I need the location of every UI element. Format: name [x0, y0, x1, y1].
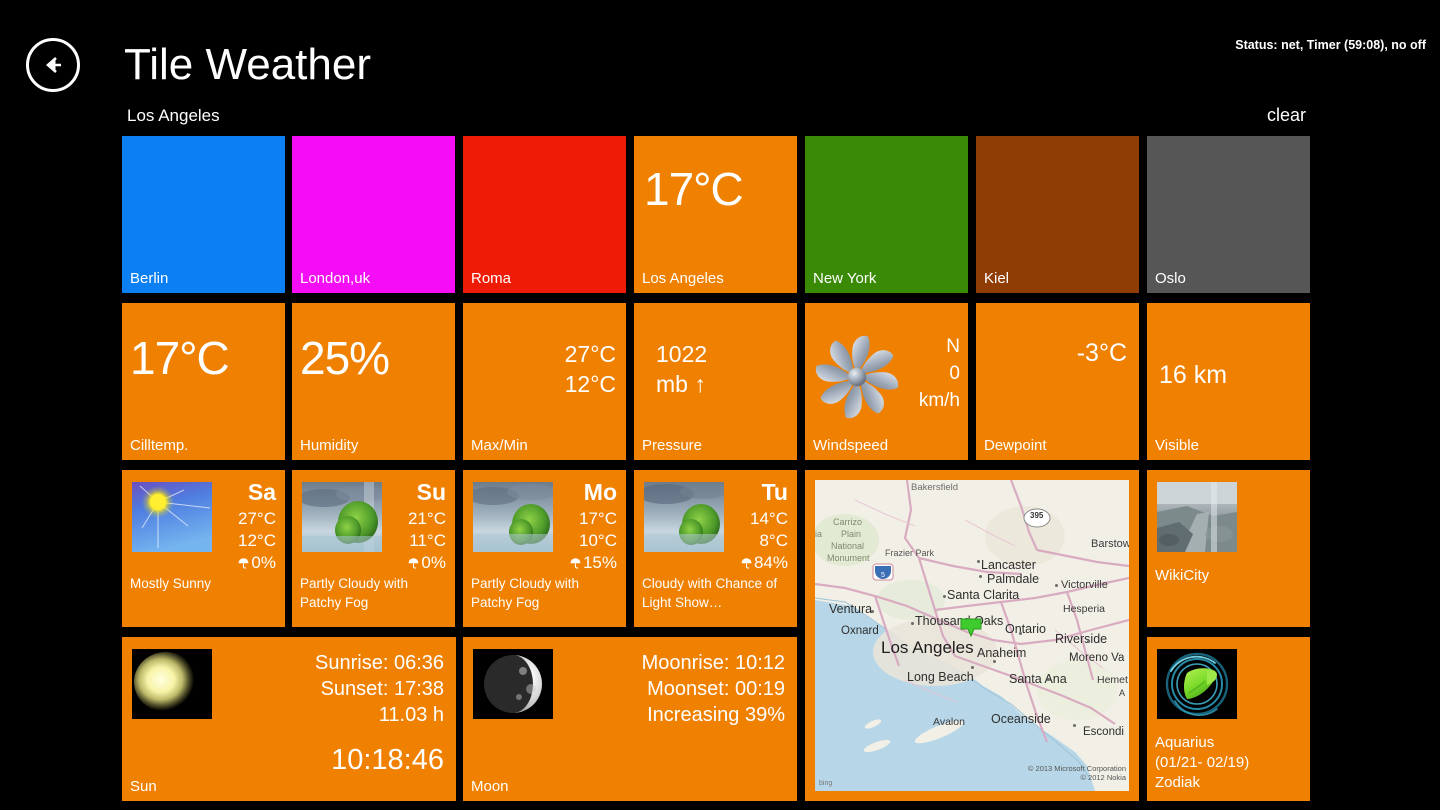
forecast-desc: Partly Cloudy with Patchy Fog — [471, 574, 620, 612]
moon-phase-text: Increasing 39% — [642, 702, 785, 728]
forecast-values: 27°C 12°C 0% — [237, 508, 276, 576]
forecast-tile-sa[interactable]: Sa 27°C 12°C 0% Mostly Sunny — [122, 470, 285, 627]
forecast-tile-mo[interactable]: Mo 17°C 10°C 15% Partly Cloudy with Patc… — [463, 470, 626, 627]
map-label: Oceanside — [991, 712, 1051, 726]
city-name: Oslo — [1155, 270, 1186, 287]
map-city-dot — [871, 610, 874, 613]
windspeed-values: N 0 km/h — [919, 333, 960, 414]
map-tile[interactable]: 5 Bakersfield 395 Carrizo Plain National… — [805, 470, 1139, 801]
forecast-desc: Partly Cloudy with Patchy Fog — [300, 574, 449, 612]
map-label: ia — [815, 529, 822, 539]
map-brand: bing — [819, 780, 832, 787]
forecast-desc: Mostly Sunny — [130, 574, 279, 593]
map-label: Santa Clarita — [947, 588, 1019, 602]
map-label: Carrizo — [833, 517, 862, 527]
status-text: Status: net, Timer (59:08), no off — [1235, 38, 1426, 52]
sunset-text: Sunset: 17:38 — [315, 676, 444, 702]
city-name: London,uk — [300, 270, 370, 287]
map-city-dot — [911, 622, 914, 625]
forecast-precip: 0% — [251, 553, 276, 572]
visible-value: 16 km — [1159, 361, 1227, 390]
city-tile-london[interactable]: London,uk — [292, 136, 455, 293]
map-label: Ontario — [1005, 622, 1046, 636]
chilltemp-value: 17°C — [130, 331, 229, 385]
city-temp: 17°C — [644, 162, 743, 216]
city-tile-new-york[interactable]: New York — [805, 136, 968, 293]
moon-values: Moonrise: 10:12 Moonset: 00:19 Increasin… — [642, 650, 785, 728]
city-name: Los Angeles — [642, 270, 724, 287]
zodiak-info: Aquarius (01/21- 02/19) Zodiak — [1155, 733, 1304, 793]
partly-cloudy-icon — [302, 482, 382, 552]
zodiak-dates: (01/21- 02/19) — [1155, 753, 1304, 773]
city-tile-kiel[interactable]: Kiel — [976, 136, 1139, 293]
maxmin-min: 12°C — [565, 369, 616, 399]
aquarius-icon — [1157, 649, 1237, 719]
pressure-value: 1022 — [656, 339, 707, 369]
city-name: Berlin — [130, 270, 168, 287]
map-city-dot — [971, 666, 974, 669]
pressure-label: Pressure — [642, 437, 702, 454]
map-label: Victorville — [1061, 579, 1108, 591]
zodiak-sign: Aquarius — [1155, 733, 1304, 753]
map-city-dot — [1019, 632, 1022, 635]
umbrella-icon — [407, 554, 420, 576]
forecast-precip-row: 0% — [407, 552, 446, 576]
dewpoint-value: -3°C — [1077, 339, 1127, 368]
visible-label: Visible — [1155, 437, 1199, 454]
dewpoint-label: Dewpoint — [984, 437, 1047, 454]
map-label: Santa Ana — [1009, 672, 1067, 686]
city-name: Kiel — [984, 270, 1009, 287]
metric-tile-windspeed[interactable]: N 0 km/h Windspeed — [805, 303, 968, 460]
umbrella-icon — [569, 554, 582, 576]
map-city-dot — [977, 560, 980, 563]
chilltemp-label: Cilltemp. — [130, 437, 188, 454]
page-title: Tile Weather — [124, 38, 371, 92]
map-city-dot — [1055, 584, 1058, 587]
moon-label: Moon — [471, 778, 509, 795]
forecast-day: Mo — [584, 479, 617, 506]
moonset-text: Moonset: 00:19 — [642, 676, 785, 702]
forecast-low: 12°C — [237, 530, 276, 552]
wikicity-photo-icon — [1157, 482, 1237, 552]
map-city-dot — [993, 660, 996, 663]
sunrise-text: Sunrise: 06:36 — [315, 650, 444, 676]
wind-direction: N — [919, 333, 960, 360]
map-label: Barstow — [1091, 538, 1129, 550]
maxmin-label: Max/Min — [471, 437, 528, 454]
map-city-dot — [1047, 678, 1050, 681]
moon-tile[interactable]: Moonrise: 10:12 Moonset: 00:19 Increasin… — [463, 637, 797, 801]
forecast-high: 21°C — [407, 508, 446, 530]
city-tile-roma[interactable]: Roma — [463, 136, 626, 293]
map-label: Escondi — [1083, 726, 1124, 738]
map-label: Hesperia — [1063, 603, 1105, 615]
map-label: Long Beach — [907, 670, 974, 684]
tile-grid: Berlin London,uk Roma 17°C Los Angeles N… — [122, 136, 1312, 801]
sun-label: Sun — [130, 778, 157, 795]
forecast-day: Sa — [248, 479, 276, 506]
forecast-precip: 84% — [754, 553, 788, 572]
map-label: Oxnard — [841, 625, 879, 637]
map-label: Plain — [841, 529, 861, 539]
forecast-low: 10°C — [569, 530, 617, 552]
wikicity-label: WikiCity — [1155, 566, 1304, 586]
map-city-dot — [943, 595, 946, 598]
location-pin-icon — [960, 618, 980, 635]
pressure-unit: mb — [656, 371, 688, 397]
sun-clock: 10:18:46 — [331, 744, 444, 777]
forecast-desc: Cloudy with Chance of Light Show… — [642, 574, 791, 612]
back-button[interactable] — [26, 38, 80, 92]
map-city-dot — [1073, 724, 1076, 727]
forecast-tile-tu[interactable]: Tu 14°C 8°C 84% Cloudy with Chance of Li… — [634, 470, 797, 627]
map-city-dot — [1087, 640, 1090, 643]
clear-button[interactable]: clear — [1267, 105, 1306, 126]
metric-tile-pressure[interactable]: 1022 mb ↑ Pressure — [634, 303, 797, 460]
sun-icon — [132, 649, 212, 719]
wikicity-tile[interactable]: WikiCity — [1147, 470, 1310, 627]
forecast-low: 8°C — [740, 530, 788, 552]
cloudy-icon — [644, 482, 724, 552]
map-label: Bakersfield — [911, 482, 958, 493]
umbrella-icon — [237, 554, 250, 576]
maxmin-values: 27°C 12°C — [565, 339, 616, 399]
selected-city-label: Los Angeles — [127, 106, 220, 126]
map-copyright-line2: © 2012 Nokia — [1028, 773, 1126, 782]
sun-tile[interactable]: Sunrise: 06:36 Sunset: 17:38 11.03 h 10:… — [122, 637, 456, 801]
back-arrow-icon — [38, 50, 68, 80]
forecast-precip: 15% — [583, 553, 617, 572]
zodiak-tile[interactable]: Aquarius (01/21- 02/19) Zodiak — [1147, 637, 1310, 801]
map-label: Frazier Park — [885, 548, 934, 558]
forecast-high: 17°C — [569, 508, 617, 530]
map-label: Los Angeles — [881, 638, 974, 658]
metric-tile-dewpoint[interactable]: -3°C Dewpoint — [976, 303, 1139, 460]
metric-tile-visible[interactable]: 16 km Visible — [1147, 303, 1310, 460]
map-canvas[interactable]: 5 Bakersfield 395 Carrizo Plain National… — [815, 480, 1129, 791]
zodiak-label: Zodiak — [1155, 773, 1304, 793]
humidity-label: Humidity — [300, 437, 358, 454]
map-label: Ventura — [829, 602, 872, 616]
forecast-values: 14°C 8°C 84% — [740, 508, 788, 576]
forecast-low: 11°C — [407, 530, 446, 552]
map-label: A — [1119, 688, 1125, 698]
pressure-trend-icon: ↑ — [694, 371, 706, 397]
forecast-precip-row: 15% — [569, 552, 617, 576]
forecast-values: 17°C 10°C 15% — [569, 508, 617, 576]
city-tile-oslo[interactable]: Oslo — [1147, 136, 1310, 293]
forecast-tile-su[interactable]: Su 21°C 11°C 0% Partly Cloudy with Patch… — [292, 470, 455, 627]
wind-speed: 0 — [919, 360, 960, 387]
city-name: New York — [813, 270, 876, 287]
metric-tile-chilltemp[interactable]: 17°C Cilltemp. — [122, 303, 285, 460]
map-label: Palmdale — [987, 572, 1039, 586]
map-label: Moreno Va — [1069, 652, 1124, 664]
pressure-unit-row: mb ↑ — [656, 369, 707, 399]
sun-values: Sunrise: 06:36 Sunset: 17:38 11.03 h — [315, 650, 444, 728]
windspeed-label: Windspeed — [813, 437, 888, 454]
wind-unit: km/h — [919, 387, 960, 414]
forecast-precip-row: 84% — [740, 552, 788, 576]
city-name: Roma — [471, 270, 511, 287]
pinwheel-icon — [811, 331, 903, 423]
forecast-day: Su — [417, 479, 446, 506]
map-label: National — [831, 541, 864, 551]
forecast-precip: 0% — [421, 553, 446, 572]
forecast-values: 21°C 11°C 0% — [407, 508, 446, 576]
forecast-precip-row: 0% — [237, 552, 276, 576]
map-copyright: © 2013 Microsoft Corporation © 2012 Noki… — [1028, 764, 1126, 782]
maxmin-max: 27°C — [565, 339, 616, 369]
map-label: Monument — [827, 553, 870, 563]
partly-cloudy-icon — [473, 482, 553, 552]
map-label: Lancaster — [981, 558, 1036, 572]
moon-phase-icon — [473, 649, 553, 719]
forecast-day: Tu — [762, 479, 788, 506]
map-city-dot — [979, 575, 982, 578]
metric-tile-maxmin[interactable]: 27°C 12°C Max/Min — [463, 303, 626, 460]
metric-tile-humidity[interactable]: 25% Humidity — [292, 303, 455, 460]
svg-text:5: 5 — [881, 572, 885, 579]
moonrise-text: Moonrise: 10:12 — [642, 650, 785, 676]
map-label: Anaheim — [977, 646, 1026, 660]
sunny-icon — [132, 482, 212, 552]
humidity-value: 25% — [300, 331, 389, 385]
city-tile-berlin[interactable]: Berlin — [122, 136, 285, 293]
forecast-high: 14°C — [740, 508, 788, 530]
map-copyright-line1: © 2013 Microsoft Corporation — [1028, 764, 1126, 773]
forecast-high: 27°C — [237, 508, 276, 530]
map-label: 395 — [1030, 511, 1043, 520]
map-label: Hemet — [1097, 674, 1128, 686]
city-tile-los-angeles[interactable]: 17°C Los Angeles — [634, 136, 797, 293]
tile-weather-app: Tile Weather Status: net, Timer (59:08),… — [0, 0, 1440, 810]
map-label: Riverside — [1055, 632, 1107, 646]
daylength-text: 11.03 h — [315, 702, 444, 728]
map-label: Avalon — [933, 716, 965, 728]
umbrella-icon — [740, 554, 753, 576]
pressure-values: 1022 mb ↑ — [656, 339, 707, 399]
